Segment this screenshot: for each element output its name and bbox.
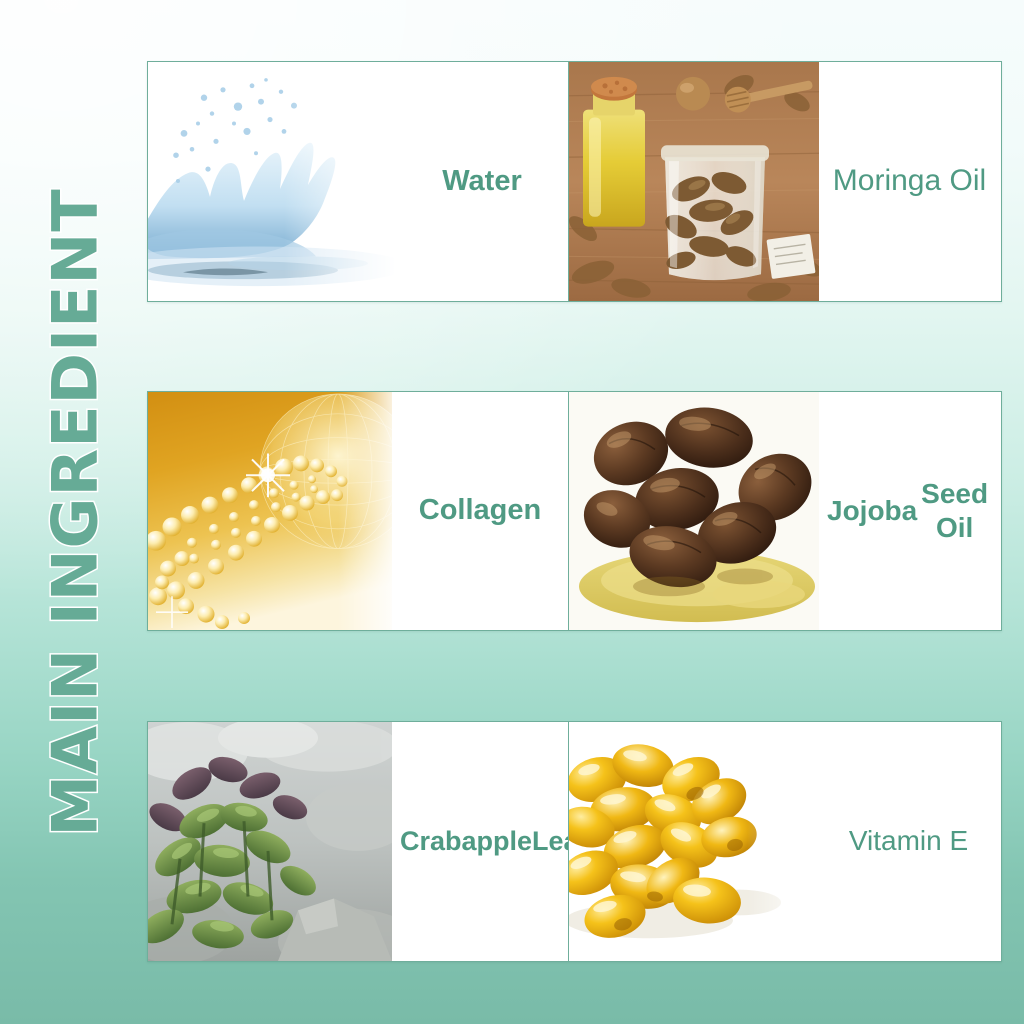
crabapple-leaf-photo [148, 722, 392, 961]
ingredient-cell-moringa-oil: Moringa Oil [568, 62, 1000, 301]
ingredient-cell-vitamin-e: Vitamin E [568, 722, 1000, 961]
ingredient-row: Collagen [147, 391, 1002, 631]
ingredient-cell-jojoba-seed-oil: Jojoba Seed Oil [568, 392, 1000, 630]
ingredient-poster: MAIN INGREDIENT [0, 0, 1024, 1024]
ingredient-label-line1: Crabapple [400, 825, 532, 858]
page-title: MAIN INGREDIENT [39, 188, 112, 836]
collagen-dna-helix-photo [148, 392, 392, 630]
ingredient-label: Jojoba Seed Oil [819, 392, 1000, 630]
ingredient-label: Moringa Oil [819, 62, 1000, 301]
ingredient-row: Water [147, 61, 1002, 302]
ingredient-cell-crabapple-leaf-extract: Crabapple Leaf Extract [148, 722, 568, 961]
ingredient-label: Vitamin E [817, 722, 1000, 961]
ingredient-cell-water: Water [148, 62, 568, 301]
ingredient-label-line2: Leaf [532, 825, 568, 858]
vertical-title-container: MAIN INGREDIENT [0, 0, 150, 1024]
ingredient-label-line2: Seed Oil [917, 477, 992, 545]
ingredient-row: Crabapple Leaf Extract [147, 721, 1002, 962]
water-splash-photo [148, 62, 396, 301]
ingredient-label: Crabapple Leaf Extract [392, 722, 568, 961]
vitamin-e-capsules-photo [569, 722, 817, 961]
ingredient-cell-collagen: Collagen [148, 392, 568, 630]
ingredient-label: Water [396, 62, 568, 301]
ingredient-label-line1: Jojoba [827, 494, 917, 528]
ingredient-label: Collagen [392, 392, 568, 630]
moringa-oil-bottle-photo [569, 62, 819, 301]
jojoba-seeds-photo [569, 392, 819, 630]
